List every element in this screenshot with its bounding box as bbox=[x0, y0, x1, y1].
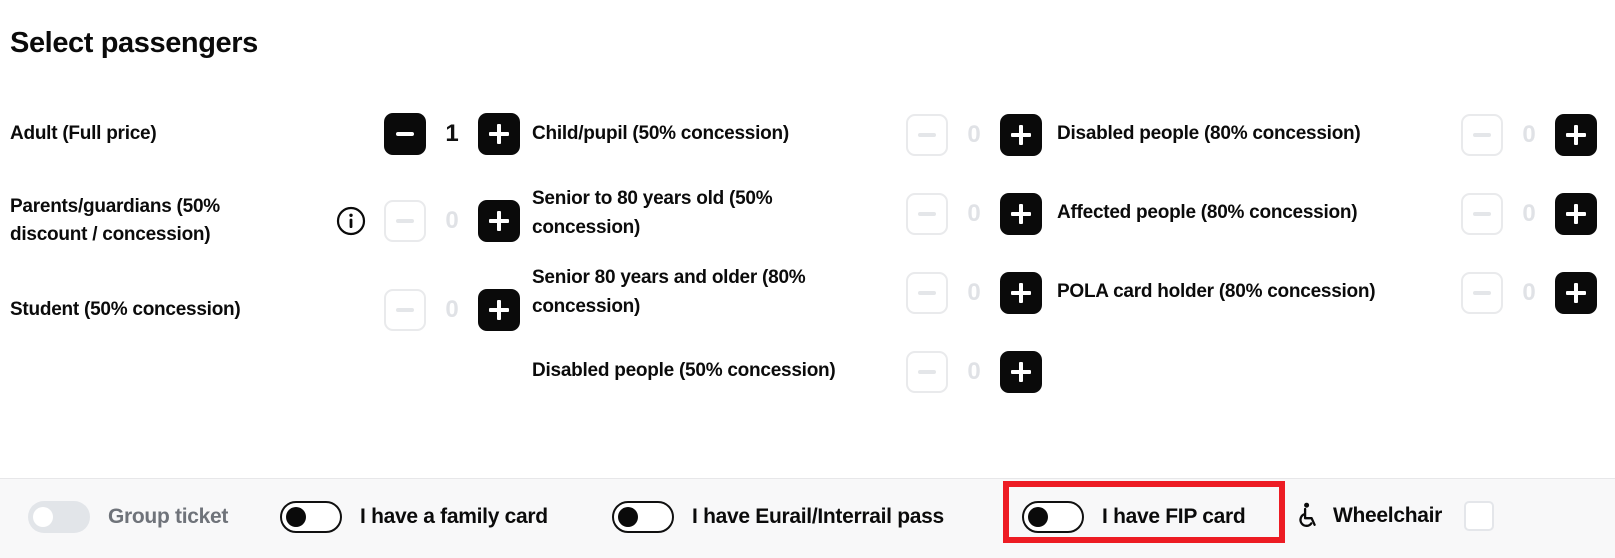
options-bar: Group ticket I have a family card I have… bbox=[0, 478, 1615, 558]
passenger-type-grid: Adult (Full price) 1 Parents/guardians (… bbox=[0, 95, 1615, 425]
plus-icon bbox=[1566, 204, 1586, 224]
decrement-button-senior-80-plus[interactable] bbox=[906, 272, 948, 314]
passenger-label: Disabled people (50% concession) bbox=[532, 357, 852, 386]
stepper-senior-to-80: 0 bbox=[852, 193, 1042, 235]
minus-icon bbox=[918, 133, 936, 137]
count-value-pola-card-holder: 0 bbox=[1503, 279, 1555, 307]
plus-icon bbox=[1011, 362, 1031, 382]
passenger-label: Child/pupil (50% concession) bbox=[532, 120, 852, 149]
group-ticket-label: Group ticket bbox=[108, 505, 228, 529]
info-icon[interactable] bbox=[336, 206, 366, 236]
plus-icon bbox=[489, 300, 509, 320]
passenger-label: Adult (Full price) bbox=[10, 120, 308, 149]
toggle-knob bbox=[1028, 507, 1048, 527]
passenger-label: Parents/guardians (50% discount / conces… bbox=[10, 193, 308, 250]
passenger-row-child-pupil: Child/pupil (50% concession) 0 bbox=[532, 95, 1042, 174]
passenger-row-adult: Adult (Full price) 1 bbox=[10, 95, 520, 173]
eurail-pass-toggle[interactable] bbox=[612, 501, 674, 533]
increment-button-senior-to-80[interactable] bbox=[1000, 193, 1042, 235]
decrement-button-child-pupil[interactable] bbox=[906, 114, 948, 156]
minus-icon bbox=[918, 370, 936, 374]
increment-button-student[interactable] bbox=[478, 289, 520, 331]
minus-icon bbox=[1473, 291, 1491, 295]
minus-icon bbox=[396, 308, 414, 312]
count-value-adult: 1 bbox=[426, 120, 478, 148]
increment-button-parents-guardians[interactable] bbox=[478, 200, 520, 242]
toggle-knob bbox=[618, 507, 638, 527]
count-value-senior-to-80: 0 bbox=[948, 200, 1000, 228]
passenger-row-affected-people: Affected people (80% concession) 0 bbox=[1057, 174, 1597, 253]
decrement-button-adult[interactable] bbox=[384, 113, 426, 155]
stepper-pola-card-holder: 0 bbox=[1417, 272, 1597, 314]
passenger-row-disabled-50: Disabled people (50% concession) 0 bbox=[532, 332, 1042, 411]
count-value-student: 0 bbox=[426, 296, 478, 324]
option-wheelchair: Wheelchair bbox=[1297, 501, 1494, 531]
count-value-child-pupil: 0 bbox=[948, 121, 1000, 149]
passenger-label: Affected people (80% concession) bbox=[1057, 199, 1417, 228]
option-eurail-interrail-pass: I have Eurail/Interrail pass bbox=[612, 501, 944, 533]
plus-icon bbox=[1011, 125, 1031, 145]
decrement-button-pola-card-holder[interactable] bbox=[1461, 272, 1503, 314]
decrement-button-senior-to-80[interactable] bbox=[906, 193, 948, 235]
fip-card-toggle[interactable] bbox=[1022, 501, 1084, 533]
toggle-knob bbox=[33, 507, 53, 527]
option-group-ticket: Group ticket bbox=[28, 501, 228, 533]
group-ticket-toggle[interactable] bbox=[28, 501, 90, 533]
passenger-label: Senior to 80 years old (50% concession) bbox=[532, 185, 852, 242]
increment-button-adult[interactable] bbox=[478, 113, 520, 155]
family-card-label: I have a family card bbox=[360, 505, 548, 529]
family-card-toggle[interactable] bbox=[280, 501, 342, 533]
stepper-disabled-80: 0 bbox=[1417, 114, 1597, 156]
stepper-parents-guardians: 0 bbox=[308, 200, 520, 242]
plus-icon bbox=[1566, 125, 1586, 145]
increment-button-disabled-80[interactable] bbox=[1555, 114, 1597, 156]
increment-button-affected-people[interactable] bbox=[1555, 193, 1597, 235]
count-value-parents-guardians: 0 bbox=[426, 207, 478, 235]
increment-button-pola-card-holder[interactable] bbox=[1555, 272, 1597, 314]
minus-icon bbox=[918, 291, 936, 295]
passenger-label: Student (50% concession) bbox=[10, 296, 308, 325]
passenger-label: Disabled people (80% concession) bbox=[1057, 120, 1417, 149]
minus-icon bbox=[396, 132, 414, 136]
minus-icon bbox=[918, 212, 936, 216]
wheelchair-label: Wheelchair bbox=[1333, 504, 1442, 528]
passenger-row-pola-card-holder: POLA card holder (80% concession) 0 bbox=[1057, 253, 1597, 332]
passenger-column-2: Child/pupil (50% concession) 0 Senior to… bbox=[532, 95, 1042, 411]
increment-button-senior-80-plus[interactable] bbox=[1000, 272, 1042, 314]
page-title: Select passengers bbox=[10, 27, 258, 60]
decrement-button-affected-people[interactable] bbox=[1461, 193, 1503, 235]
stepper-affected-people: 0 bbox=[1417, 193, 1597, 235]
stepper-student: 0 bbox=[308, 289, 520, 331]
passenger-row-senior-to-80: Senior to 80 years old (50% concession) … bbox=[532, 174, 1042, 253]
stepper-senior-80-plus: 0 bbox=[852, 272, 1042, 314]
minus-icon bbox=[396, 219, 414, 223]
passenger-row-disabled-80: Disabled people (80% concession) 0 bbox=[1057, 95, 1597, 174]
passenger-row-student: Student (50% concession) 0 bbox=[10, 269, 520, 351]
stepper-adult: 1 bbox=[308, 113, 520, 155]
decrement-button-parents-guardians[interactable] bbox=[384, 200, 426, 242]
passenger-column-3: Disabled people (80% concession) 0 Affec… bbox=[1057, 95, 1597, 332]
fip-card-label: I have FIP card bbox=[1102, 505, 1245, 529]
decrement-button-student[interactable] bbox=[384, 289, 426, 331]
plus-icon bbox=[1566, 283, 1586, 303]
decrement-button-disabled-80[interactable] bbox=[1461, 114, 1503, 156]
stepper-child-pupil: 0 bbox=[852, 114, 1042, 156]
passenger-label: Senior 80 years and older (80% concessio… bbox=[532, 264, 852, 321]
increment-button-disabled-50[interactable] bbox=[1000, 351, 1042, 393]
plus-icon bbox=[1011, 283, 1031, 303]
count-value-disabled-80: 0 bbox=[1503, 121, 1555, 149]
count-value-affected-people: 0 bbox=[1503, 200, 1555, 228]
passenger-column-1: Adult (Full price) 1 Parents/guardians (… bbox=[10, 95, 520, 351]
option-fip-card: I have FIP card bbox=[1022, 501, 1245, 533]
increment-button-child-pupil[interactable] bbox=[1000, 114, 1042, 156]
count-value-disabled-50: 0 bbox=[948, 358, 1000, 386]
minus-icon bbox=[1473, 212, 1491, 216]
passenger-label: POLA card holder (80% concession) bbox=[1057, 278, 1417, 307]
passenger-row-parents-guardians: Parents/guardians (50% discount / conces… bbox=[10, 173, 520, 269]
count-value-senior-80-plus: 0 bbox=[948, 279, 1000, 307]
plus-icon bbox=[489, 211, 509, 231]
plus-icon bbox=[489, 124, 509, 144]
plus-icon bbox=[1011, 204, 1031, 224]
passenger-row-senior-80-plus: Senior 80 years and older (80% concessio… bbox=[532, 253, 1042, 332]
toggle-knob bbox=[286, 507, 306, 527]
stepper-disabled-50: 0 bbox=[852, 351, 1042, 393]
option-family-card: I have a family card bbox=[280, 501, 548, 533]
wheelchair-checkbox[interactable] bbox=[1464, 501, 1494, 531]
wheelchair-icon bbox=[1297, 501, 1321, 531]
eurail-pass-label: I have Eurail/Interrail pass bbox=[692, 505, 944, 529]
decrement-button-disabled-50[interactable] bbox=[906, 351, 948, 393]
minus-icon bbox=[1473, 133, 1491, 137]
